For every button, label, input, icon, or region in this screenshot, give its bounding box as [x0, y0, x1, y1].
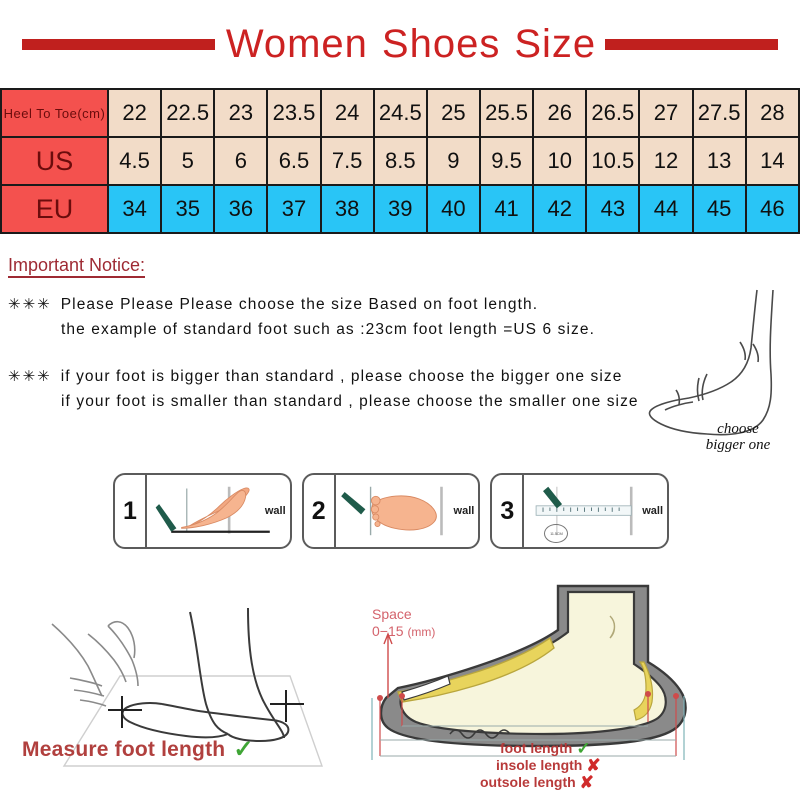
cell-us: 13	[693, 137, 746, 185]
choose-caption-line1: choose	[683, 421, 793, 437]
step-2-wall-label: wall	[454, 505, 475, 517]
check-icon: ✓	[233, 738, 253, 762]
cell-cm: 25	[427, 89, 480, 137]
page-title: WomenShoesSize	[0, 18, 800, 70]
measure-foot-length-caption: Measure foot length ✓	[22, 738, 312, 762]
step-3-number: 3	[492, 475, 524, 547]
cell-us: 9	[427, 137, 480, 185]
cell-eu: 37	[267, 185, 320, 233]
step-2: 2 wall	[302, 473, 481, 549]
cell-us: 10.5	[586, 137, 639, 185]
cell-eu: 36	[214, 185, 267, 233]
notice-line-3: ✳✳✳if your foot is bigger than standard …	[8, 364, 688, 389]
space-label: Space 0−15 (mm)	[372, 606, 435, 641]
cell-us: 9.5	[480, 137, 533, 185]
cell-us: 8.5	[374, 137, 427, 185]
cell-eu: 38	[321, 185, 374, 233]
cell-us: 7.5	[321, 137, 374, 185]
measurement-steps: 1 wall 2	[113, 473, 669, 549]
size-conversion-table: Heel To Toe(cm) 22 22.5 23 23.5 24 24.5 …	[0, 88, 800, 234]
cell-cm: 24.5	[374, 89, 427, 137]
cell-us: 12	[639, 137, 692, 185]
space-label-line1: Space	[372, 606, 435, 623]
step-1: 1 wall	[113, 473, 292, 549]
cell-eu: 44	[639, 185, 692, 233]
cell-us: 14	[746, 137, 799, 185]
step-2-illustration: wall	[336, 475, 479, 547]
space-unit: (mm)	[407, 625, 435, 639]
cell-eu: 45	[693, 185, 746, 233]
cell-cm: 22.5	[161, 89, 214, 137]
asterisk-icon: ✳✳✳	[8, 296, 52, 313]
title-rule-right	[605, 39, 778, 50]
label-insole-length-text: insole length	[496, 757, 582, 774]
cell-cm: 28	[746, 89, 799, 137]
notice-text-block: ✳✳✳Please Please Please choose the size …	[8, 292, 688, 414]
cell-eu: 46	[746, 185, 799, 233]
cell-eu: 42	[533, 185, 586, 233]
cell-cm: 27.5	[693, 89, 746, 137]
important-notice-heading: Important Notice:	[8, 256, 145, 278]
notice-line-4: if your foot is smaller than standard , …	[8, 389, 688, 414]
cell-eu: 40	[427, 185, 480, 233]
cell-eu: 41	[480, 185, 533, 233]
title-rule-left	[22, 39, 215, 50]
cell-eu: 43	[586, 185, 639, 233]
cell-cm: 27	[639, 89, 692, 137]
space-label-line2: 0−15 (mm)	[372, 623, 435, 641]
cell-cm: 23	[214, 89, 267, 137]
cell-us: 10	[533, 137, 586, 185]
measure-caption-text: Measure foot length	[22, 738, 225, 762]
check-icon: ✓	[576, 740, 590, 757]
cell-cm: 23.5	[267, 89, 320, 137]
step-1-number: 1	[115, 475, 147, 547]
title-word-size: Size	[514, 22, 596, 66]
cell-cm: 22	[108, 89, 161, 137]
table-row: Heel To Toe(cm) 22 22.5 23 23.5 24 24.5 …	[1, 89, 799, 137]
title-word-women: Women	[226, 22, 368, 66]
size-chart-page: WomenShoesSize Heel To Toe(cm) 22 22.5 2…	[0, 0, 800, 800]
row-header-heel-to-toe: Heel To Toe(cm)	[1, 89, 108, 137]
notice-line-1: ✳✳✳Please Please Please choose the size …	[8, 292, 688, 317]
step-1-wall-label: wall	[265, 505, 286, 517]
label-outsole-length-text: outsole length	[480, 774, 576, 791]
choose-bigger-one-caption: choose bigger one	[683, 421, 793, 453]
cell-us: 6	[214, 137, 267, 185]
cell-us: 5	[161, 137, 214, 185]
table-row: EU 34 35 36 37 38 39 40 41 42 43 44 45 4…	[1, 185, 799, 233]
step-1-illustration: wall	[147, 475, 290, 547]
step-2-number: 2	[304, 475, 336, 547]
notice-line-1-text: Please Please Please choose the size Bas…	[61, 296, 538, 313]
cell-eu: 35	[161, 185, 214, 233]
step-3-wall-label: wall	[642, 505, 663, 517]
cross-icon: ✘	[580, 774, 594, 791]
space-range: 0−15	[372, 623, 404, 639]
notice-line-2: the example of standard foot such as :23…	[8, 317, 688, 342]
label-foot-length-text: foot length	[500, 740, 572, 757]
cell-cm: 26	[533, 89, 586, 137]
title-word-shoes: Shoes	[382, 22, 500, 66]
cell-us: 4.5	[108, 137, 161, 185]
length-comparison-labels: foot length ✓ insole length ✘ outsole le…	[480, 740, 740, 791]
title-text: WomenShoesSize	[219, 22, 603, 67]
choose-caption-line2: bigger one	[683, 437, 793, 453]
cell-cm: 25.5	[480, 89, 533, 137]
cell-cm: 26.5	[586, 89, 639, 137]
notice-line-3-text: if your foot is bigger than standard , p…	[61, 368, 623, 385]
step-3-illustration: 11.5CM wall	[524, 475, 667, 547]
asterisk-icon: ✳✳✳	[8, 368, 52, 385]
cross-icon: ✘	[586, 757, 600, 774]
label-foot-length: foot length ✓	[480, 740, 740, 757]
cell-eu: 34	[108, 185, 161, 233]
row-header-eu: EU	[1, 185, 108, 233]
step-3: 3 11.5CM wall	[490, 473, 669, 549]
table-row: US 4.5 5 6 6.5 7.5 8.5 9 9.5 10 10.5 12 …	[1, 137, 799, 185]
label-insole-length: insole length ✘	[480, 757, 740, 774]
row-header-us: US	[1, 137, 108, 185]
label-outsole-length: outsole length ✘	[480, 774, 740, 791]
cell-us: 6.5	[267, 137, 320, 185]
cell-cm: 24	[321, 89, 374, 137]
cell-eu: 39	[374, 185, 427, 233]
